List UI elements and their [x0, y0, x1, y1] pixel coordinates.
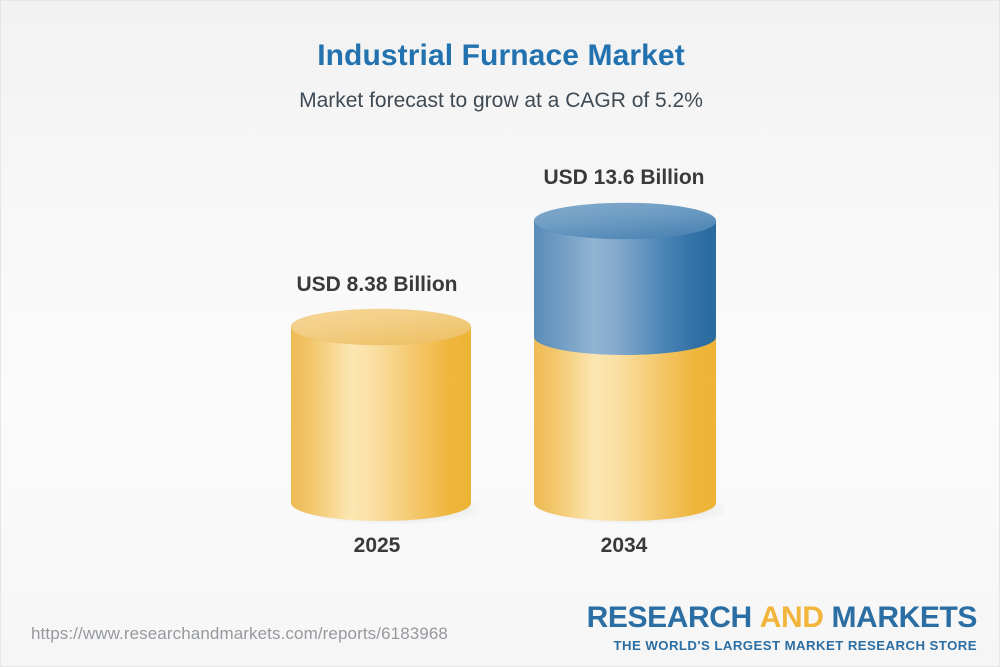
research-and-markets-logo[interactable]: RESEARCH AND MARKETS THE WORLD'S LARGEST…	[587, 603, 977, 652]
logo-word-and: AND	[760, 601, 824, 634]
logo-word-research: RESEARCH	[587, 601, 752, 634]
bar-value-label-2034: USD 13.6 Billion	[464, 166, 784, 190]
logo-wordmark: RESEARCH AND MARKETS	[587, 603, 977, 633]
chart-card: Industrial Furnace Market Market forecas…	[0, 0, 1000, 667]
source-url-link[interactable]: https://www.researchandmarkets.com/repor…	[31, 624, 448, 644]
bar-category-label-2034: 2034	[464, 534, 784, 558]
logo-word-markets: MARKETS	[831, 601, 977, 634]
cylinder-2034	[525, 197, 725, 527]
bar-value-label-2025: USD 8.38 Billion	[217, 273, 537, 297]
chart-plot-area: USD 8.38 Billion	[1, 1, 1000, 601]
cylinder-2025	[283, 303, 479, 527]
logo-tagline: THE WORLD'S LARGEST MARKET RESEARCH STOR…	[587, 639, 977, 652]
